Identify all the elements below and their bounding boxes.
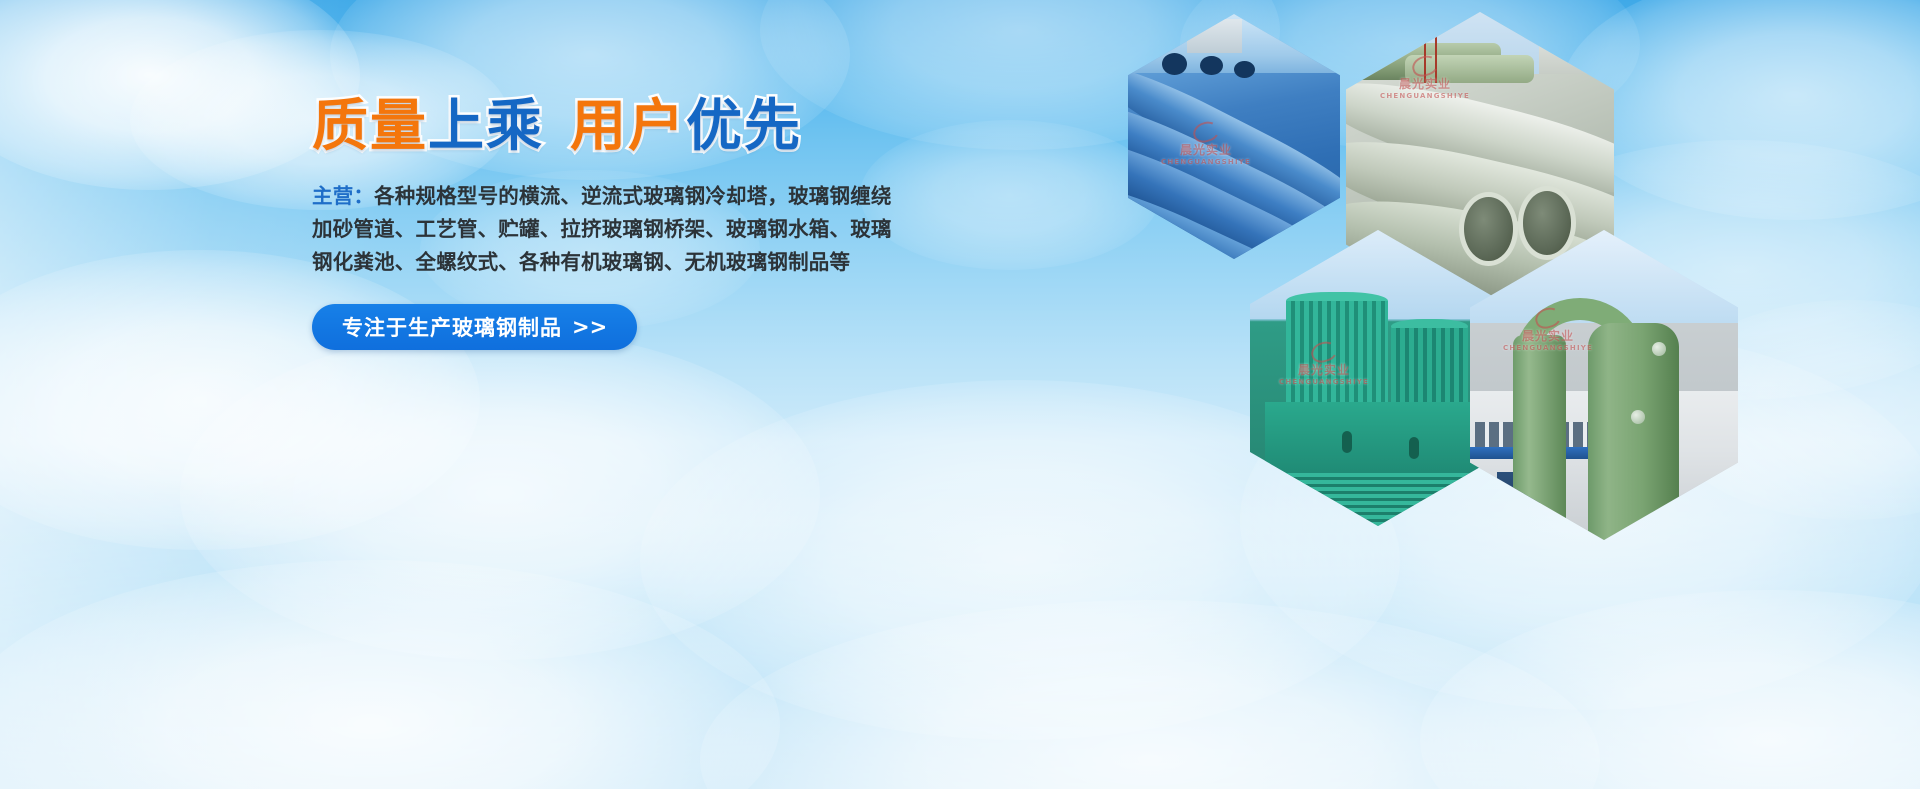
banner-copy: 质量上乘用户优先 主营：各种规格型号的横流、逆流式玻璃钢冷却塔，玻璃钢缠绕加砂管… bbox=[312, 96, 932, 350]
watermark-cn: 晨光实业 bbox=[1298, 363, 1350, 377]
cloud-decoration bbox=[0, 0, 360, 190]
vessel-hatch bbox=[1631, 410, 1645, 424]
product-gallery: 晨光实业 CHENGUANGSHIYE 晨光实业 CHENGUAN bbox=[1128, 8, 1768, 508]
description-label: 主营： bbox=[312, 184, 374, 208]
page-title: 质量上乘用户优先 bbox=[312, 96, 932, 158]
watermark-cn: 晨光实业 bbox=[1180, 143, 1232, 157]
hero-banner: 质量上乘用户优先 主营：各种规格型号的横流、逆流式玻璃钢冷却塔，玻璃钢缠绕加砂管… bbox=[0, 0, 1920, 789]
image-building bbox=[1187, 19, 1242, 53]
vessel-hatch bbox=[1652, 342, 1666, 356]
headline-part-4: 优先 bbox=[686, 96, 802, 158]
tower-louver bbox=[1265, 473, 1495, 526]
tower-port bbox=[1342, 431, 1352, 453]
cta-button[interactable]: 专注于生产玻璃钢制品 >> bbox=[312, 304, 637, 350]
watermark-en: CHENGUANGSHIYE bbox=[1484, 344, 1612, 352]
cloud-decoration bbox=[700, 600, 1600, 789]
watermark-cn: 晨光实业 bbox=[1522, 329, 1574, 343]
duct-shape bbox=[1513, 335, 1567, 540]
pipe-opening bbox=[1459, 192, 1518, 266]
cloud-decoration bbox=[1420, 590, 1920, 789]
cta-label: 专注于生产玻璃钢制品 bbox=[342, 312, 562, 342]
logo-mark-icon bbox=[1309, 338, 1340, 365]
watermark: 晨光实业 CHENGUANGSHIYE bbox=[1260, 342, 1388, 386]
cloud-decoration bbox=[0, 560, 780, 789]
watermark-cn: 晨光实业 bbox=[1399, 77, 1451, 91]
gallery-hexagon-pipes-blue[interactable]: 晨光实业 CHENGUANGSHIYE bbox=[1128, 14, 1340, 259]
logo-mark-icon bbox=[1410, 52, 1441, 79]
headline-part-1: 质量 bbox=[312, 96, 428, 158]
logo-mark-icon bbox=[1533, 304, 1564, 331]
bottom-haze-overlay bbox=[0, 489, 1920, 789]
banner-description: 主营：各种规格型号的横流、逆流式玻璃钢冷却塔，玻璃钢缠绕加砂管道、工艺管、贮罐、… bbox=[312, 180, 912, 279]
watermark: 晨光实业 CHENGUANGSHIYE bbox=[1146, 122, 1266, 166]
chevron-right-icon: >> bbox=[572, 315, 607, 339]
tower-port bbox=[1409, 437, 1419, 459]
pipe-opening bbox=[1234, 61, 1255, 78]
watermark-en: CHENGUANGSHIYE bbox=[1260, 378, 1388, 386]
scrubber-vessel bbox=[1588, 323, 1679, 540]
logo-mark-icon bbox=[1191, 118, 1222, 145]
description-body: 各种规格型号的横流、逆流式玻璃钢冷却塔，玻璃钢缠绕加砂管道、工艺管、贮罐、拉挤玻… bbox=[312, 184, 892, 274]
watermark-en: CHENGUANGSHIYE bbox=[1360, 92, 1490, 100]
watermark: 晨光实业 CHENGUANGSHIYE bbox=[1484, 308, 1612, 352]
image-building bbox=[1539, 24, 1614, 74]
headline-part-2: 上乘 bbox=[428, 96, 544, 158]
watermark-en: CHENGUANGSHIYE bbox=[1146, 158, 1266, 166]
pipe-opening bbox=[1518, 186, 1577, 260]
watermark: 晨光实业 CHENGUANGSHIYE bbox=[1360, 56, 1490, 100]
headline-part-3: 用户 bbox=[570, 96, 686, 158]
cloud-decoration bbox=[180, 330, 820, 660]
